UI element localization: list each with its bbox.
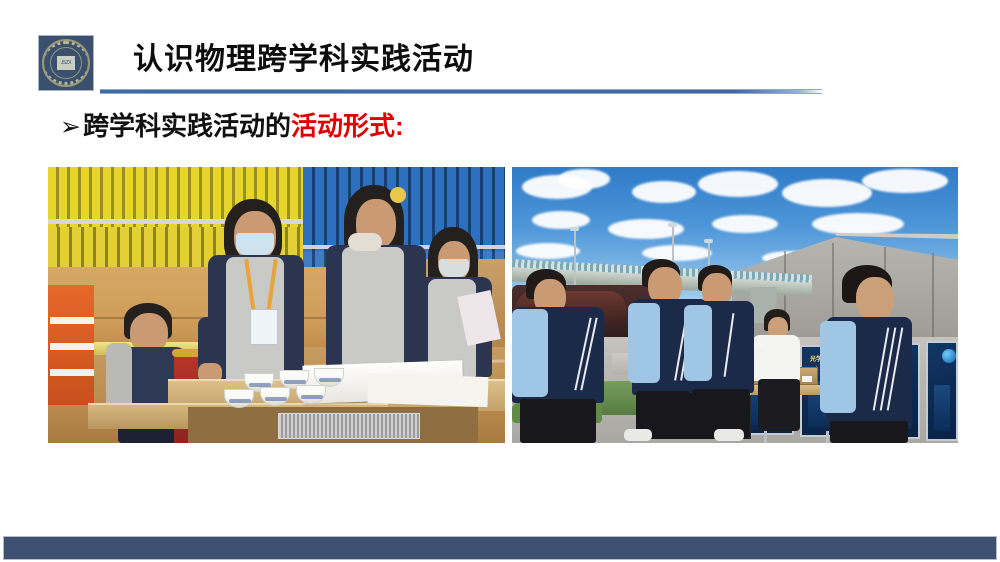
gym-rack-bar: [50, 317, 94, 324]
sleeve: [512, 309, 548, 397]
jacket-vest: [342, 247, 404, 371]
cloud: [782, 179, 872, 207]
cloud: [532, 211, 590, 229]
cloud: [698, 171, 778, 197]
globe-icon: [942, 349, 956, 363]
gym-rail: [48, 219, 323, 224]
lamp-post: [574, 229, 576, 289]
cloud: [632, 181, 696, 203]
lamp-head-icon: [570, 227, 579, 231]
emblem-inner-label: JSZX: [57, 56, 75, 70]
id-badge: [250, 309, 278, 345]
trousers: [830, 421, 908, 443]
lamp-head-icon: [668, 223, 677, 227]
bullet-line: ➢ 跨学科实践活动的 活动形式:: [60, 108, 404, 145]
shoe: [714, 429, 744, 441]
photo-left: [48, 167, 505, 443]
gym-rack-bar: [50, 343, 94, 350]
page-title: 认识物理跨学科实践活动: [133, 38, 474, 82]
emblem-icon: JSZX: [42, 39, 90, 87]
sleeve: [628, 303, 660, 383]
sleeve: [684, 305, 712, 381]
cloud: [812, 213, 904, 235]
school-logo: JSZX: [38, 35, 94, 91]
table-vent-panel: [278, 413, 420, 439]
cloud: [862, 169, 948, 193]
title-underline-divider: [100, 89, 822, 94]
worksheet-sheets: [368, 373, 489, 407]
bullet-text-accent: 活动形式:: [291, 108, 404, 144]
face-mask: [439, 259, 469, 277]
lamp-head-icon: [704, 239, 713, 243]
trousers: [520, 399, 596, 443]
board-stand-leg: [764, 429, 767, 443]
face-mask: [236, 233, 274, 255]
trousers: [758, 379, 800, 431]
board-stand-leg: [826, 431, 829, 443]
box-label: [802, 376, 812, 382]
cloud: [642, 245, 712, 261]
hair-tie: [390, 187, 406, 203]
head: [856, 277, 894, 321]
bullet-arrow-icon: ➢: [60, 109, 81, 145]
photo-right: 光学技术科普 人 类 生 活 光学技术科普 人 类 生 活 光学技术科普 人 类…: [512, 167, 958, 443]
bullet-text-main: 跨学科实践活动的: [83, 108, 291, 144]
cloud: [558, 169, 610, 189]
cloud: [516, 243, 580, 259]
footer-bar: [3, 536, 997, 560]
exhibit-board: [926, 341, 958, 441]
cloud: [712, 215, 778, 233]
exhibit-board-graphic: [934, 385, 950, 431]
sleeve: [820, 321, 856, 413]
slide-canvas: JSZX 认识物理跨学科实践活动 ➢ 跨学科实践活动的 活动形式:: [0, 0, 1000, 562]
collar: [348, 233, 382, 251]
shoe: [624, 429, 652, 441]
gym-rack-bar: [50, 369, 94, 376]
